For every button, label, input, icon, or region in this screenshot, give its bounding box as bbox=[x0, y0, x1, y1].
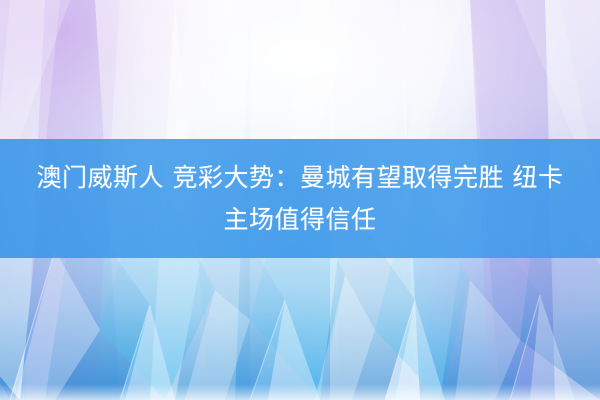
headline-text: 澳门威斯人 竞彩大势：曼城有望取得完胜 纽卡 主场值得信任 bbox=[0, 157, 600, 241]
headline-banner: 澳门威斯人 竞彩大势：曼城有望取得完胜 纽卡 主场值得信任 bbox=[0, 139, 600, 258]
banner-image: 澳门威斯人 竞彩大势：曼城有望取得完胜 纽卡 主场值得信任 bbox=[0, 0, 600, 400]
